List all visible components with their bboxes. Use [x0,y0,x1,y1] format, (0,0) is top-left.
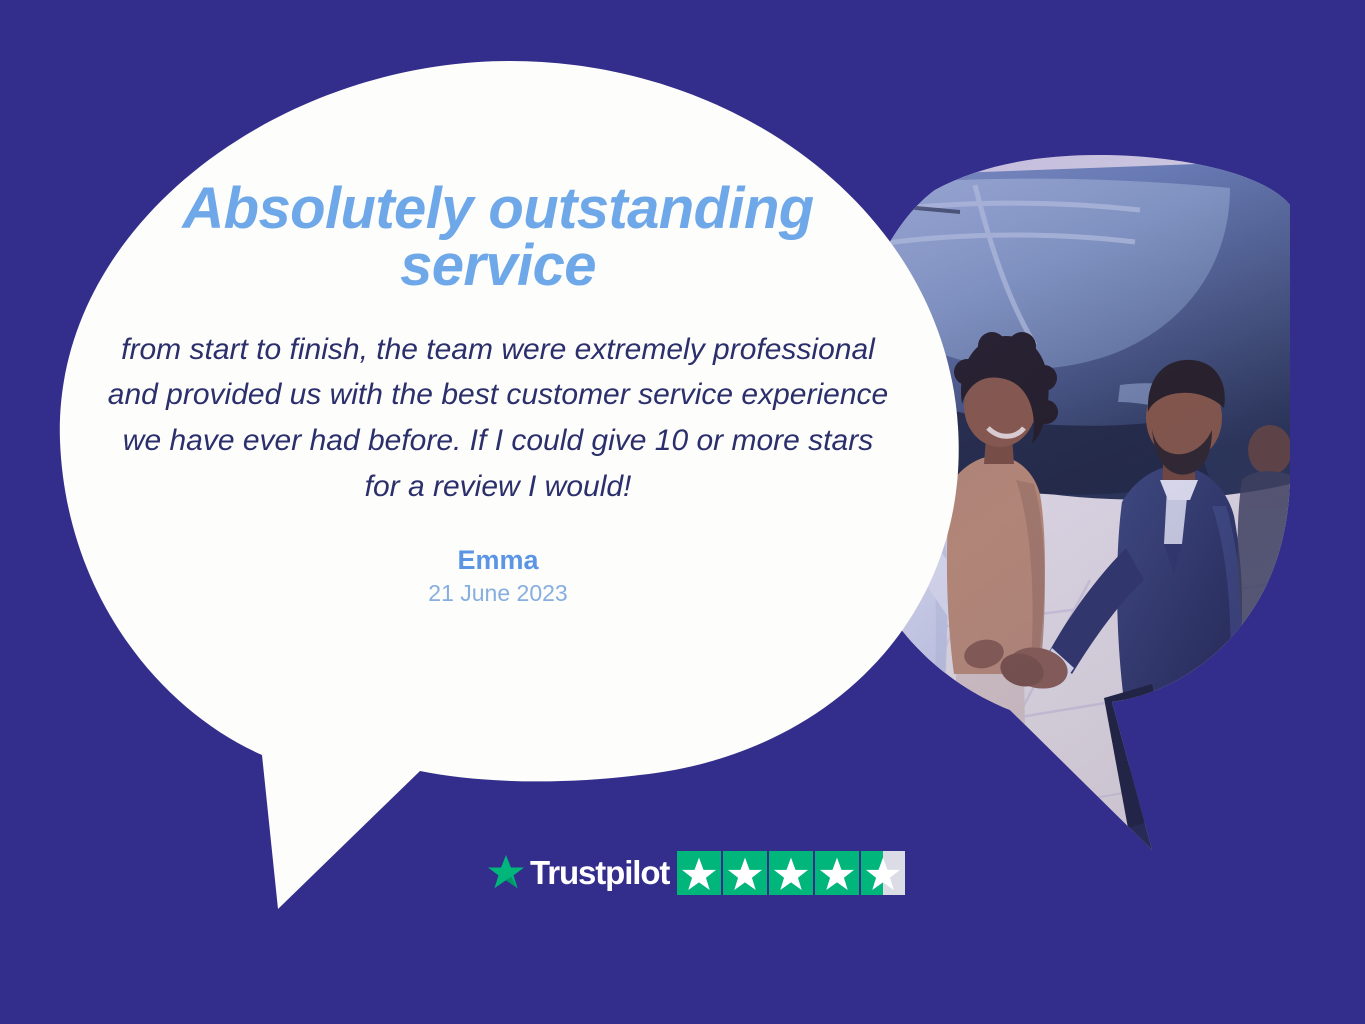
review-date: 21 June 2023 [78,580,918,607]
trustpilot-star-5 [861,851,905,895]
review-testimonial-card: Absolutely outstanding service from star… [0,0,1365,1024]
review-heading: Absolutely outstanding service [78,180,918,295]
review-author-name: Emma [78,545,918,576]
trustpilot-rating[interactable]: Trustpilot [487,851,905,895]
review-content: Absolutely outstanding service from star… [78,180,918,607]
trustpilot-star-1 [677,851,721,895]
trustpilot-logo[interactable]: Trustpilot [487,854,669,892]
trustpilot-star-icon [487,854,525,892]
trustpilot-wordmark: Trustpilot [530,854,669,892]
trustpilot-star-rating[interactable] [677,851,905,895]
trustpilot-star-4 [815,851,859,895]
trustpilot-star-2 [723,851,767,895]
review-body-text: from start to finish, the team were extr… [78,327,918,509]
trustpilot-star-3 [769,851,813,895]
